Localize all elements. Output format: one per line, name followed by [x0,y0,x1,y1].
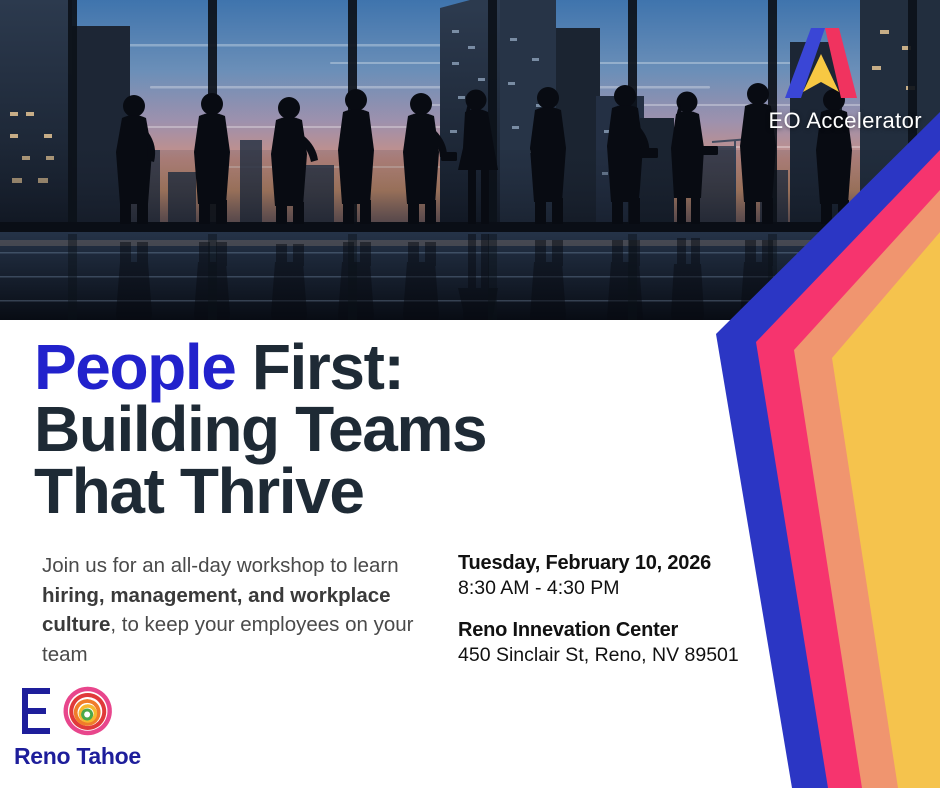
content-columns: Join us for an all-day workshop to learn… [42,551,782,670]
eo-chapter-name: Reno Tahoe [14,743,184,770]
details-spacer [458,601,752,618]
headline-line-3: That Thrive [34,460,486,522]
headline-line-1: People First: [34,336,486,398]
event-time: 8:30 AM - 4:30 PM [458,576,752,601]
eo-mark [14,682,122,740]
event-date: Tuesday, February 10, 2026 [458,551,752,576]
event-description: Join us for an all-day workshop to learn… [42,551,422,670]
eo-spiral-o [66,689,110,733]
eo-accelerator-logo: EO Accelerator [716,24,926,134]
event-details: Tuesday, February 10, 2026 8:30 AM - 4:3… [422,551,752,670]
event-address: 450 Sinclair St, Reno, NV 89501 [458,643,752,668]
eo-reno-tahoe-logo: Reno Tahoe [14,682,184,770]
accelerator-wordmark: EO Accelerator [716,108,926,134]
event-venue: Reno Innevation Center [458,618,752,643]
page-title: People First: Building Teams That Thrive [34,336,486,522]
description-part-1: Join us for an all-day workshop to learn [42,554,399,577]
headline-line-2: Building Teams [34,398,486,460]
event-flyer: EO Accelerator People First: Building Te… [0,0,940,788]
accelerator-a-mark [781,24,861,102]
eo-letter-e [22,688,50,734]
